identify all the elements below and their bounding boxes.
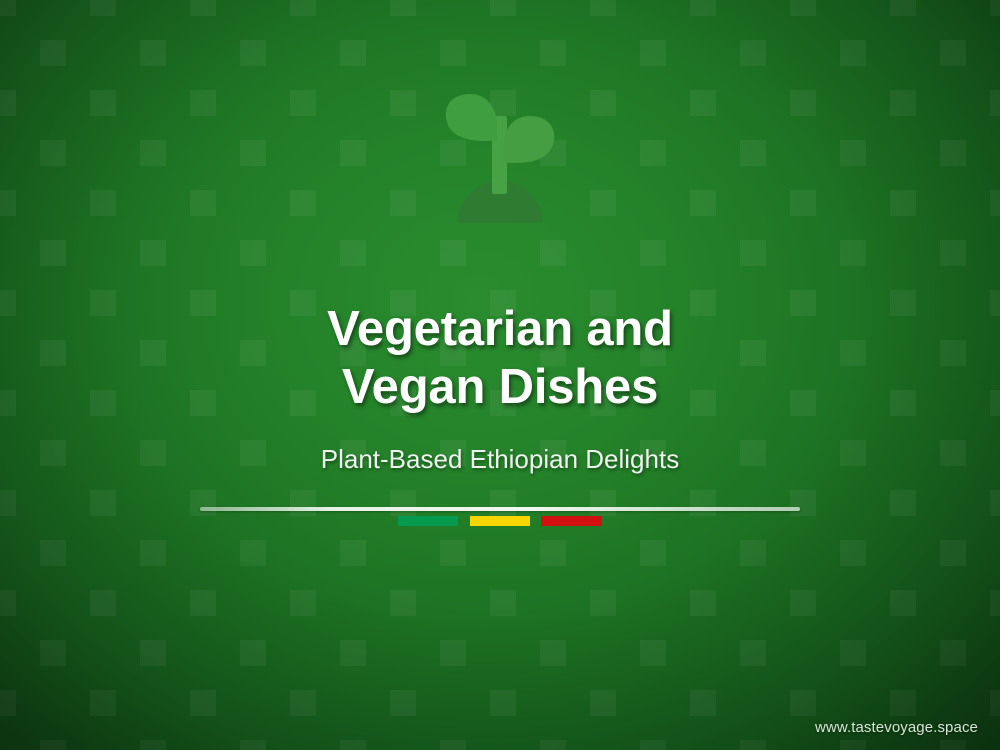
divider-line: [200, 507, 800, 511]
footer-url: www.tastevoyage.space: [815, 719, 978, 736]
title-line-1: Vegetarian and: [0, 300, 1000, 358]
title-line-2: Vegan Dishes: [0, 358, 1000, 416]
page-subtitle: Plant-Based Ethiopian Delights: [0, 444, 1000, 475]
sprout-icon: [440, 88, 560, 223]
title-slide: Vegetarian and Vegan Dishes Plant-Based …: [0, 0, 1000, 750]
flag-bar-green: [398, 516, 458, 526]
flag-bar-red: [541, 516, 602, 526]
flag-accent-bars: [398, 516, 602, 526]
page-title: Vegetarian and Vegan Dishes: [0, 300, 1000, 416]
flag-bar-yellow: [470, 516, 530, 526]
